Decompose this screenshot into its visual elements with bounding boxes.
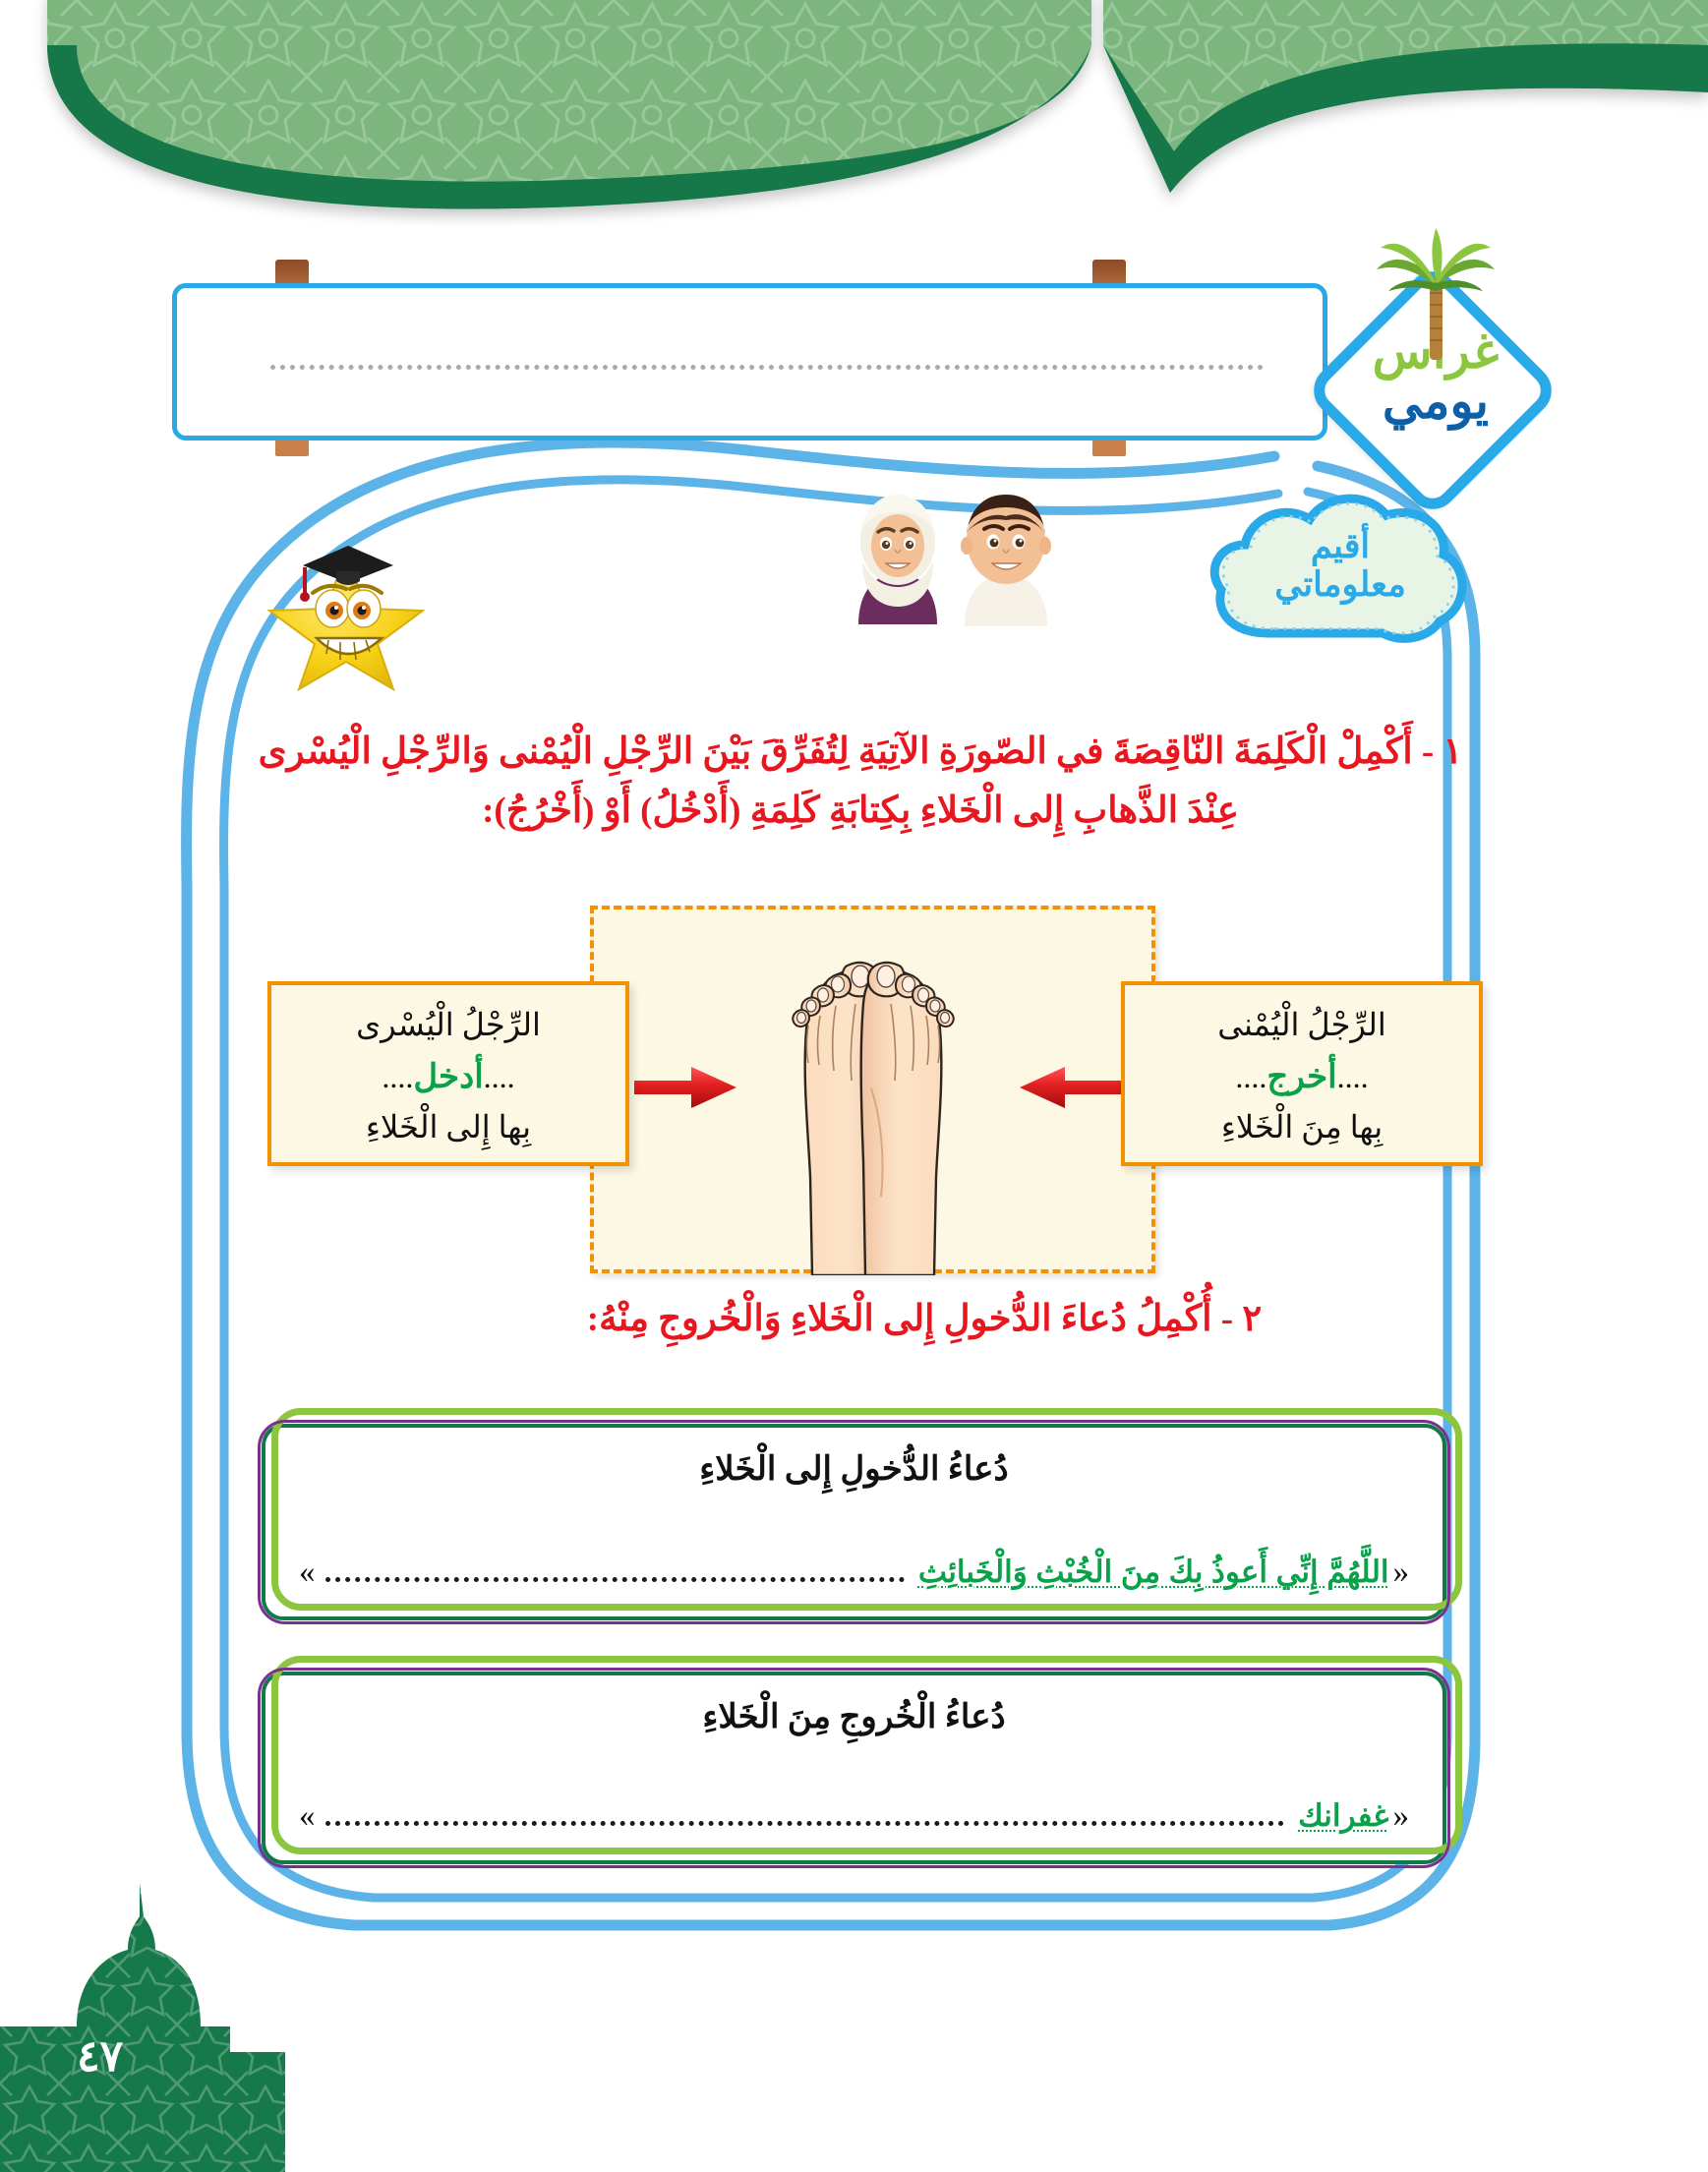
dua1-open-quote: « (1393, 1555, 1410, 1591)
ghiras-line2: يومي (1308, 377, 1563, 427)
graduation-star-icon (267, 524, 425, 691)
aqim-malumati-cloud-badge: أقيم معلوماتي (1207, 490, 1473, 647)
cloud-badge-text: أقيم معلوماتي (1207, 490, 1473, 647)
cloud-line2: معلوماتي (1274, 565, 1406, 604)
two-children-illustration (841, 477, 1067, 634)
right-box-answer[interactable]: أخرج (1266, 1058, 1336, 1095)
bare-feet-illustration (726, 913, 1021, 1275)
dua-exiting-line[interactable]: « غفرانك » (299, 1798, 1409, 1835)
left-foot-answer-box[interactable]: الرِّجْلُ الْيُسْرى ....أدخل.... بِها إِ… (267, 981, 629, 1166)
dua-entering-box[interactable]: دُعاءُ الدُّخولِ إِلى الْخَلاءِ « اللَّه… (262, 1424, 1446, 1620)
dua-exiting-box[interactable]: دُعاءُ الْخُروجِ مِنَ الْخَلاءِ « غفرانك… (262, 1672, 1446, 1864)
dua2-blank-line[interactable] (325, 1821, 1285, 1826)
question-1-text: ١ - أَكْمِلْ الْكَلِمَةَ النّاقِصَةَ في … (246, 723, 1475, 841)
right-dots-after: .... (1235, 1059, 1266, 1094)
arrow-right-icon (634, 1065, 736, 1110)
right-box-tail: بِها مِنَ الْخَلاءِ (1125, 1103, 1479, 1152)
palm-tree-icon (1367, 226, 1504, 364)
worksheet-page: غراس يومي أقيم معلوماتي (0, 0, 1708, 2172)
dua-exiting-title: دُعاءُ الْخُروجِ مِنَ الْخَلاءِ (299, 1697, 1409, 1736)
question-2-text: ٢ - أُكْمِلُ دُعاءَ الدُّخولِ إِلى الْخَ… (393, 1292, 1455, 1347)
page-number: ٤٧ (77, 2031, 123, 2082)
dua1-answer[interactable]: اللَّهُمَّ إِنِّي أَعوذُ بِكَ مِنَ الْخُ… (918, 1555, 1389, 1590)
dua2-open-quote: « (1393, 1798, 1410, 1835)
dua1-close-quote: » (299, 1555, 316, 1591)
dua2-answer[interactable]: غفرانك (1298, 1798, 1388, 1834)
arrow-left-icon (1020, 1065, 1122, 1110)
dua2-close-quote: » (299, 1798, 316, 1835)
dua-entering-line[interactable]: « اللَّهُمَّ إِنِّي أَعوذُ بِكَ مِنَ الْ… (299, 1555, 1409, 1591)
right-dots-before: .... (1337, 1059, 1369, 1094)
left-box-answer[interactable]: أدخل (413, 1058, 483, 1095)
left-dots-after: .... (382, 1059, 413, 1094)
right-box-title: الرِّجْلُ الْيُمْنى (1125, 1001, 1479, 1050)
cloud-line1: أقيم (1311, 527, 1370, 565)
left-box-title: الرِّجْلُ الْيُسْرى (271, 1001, 625, 1050)
dua1-blank-line[interactable] (325, 1577, 905, 1582)
right-box-answer-row[interactable]: ....أخرج.... (1125, 1050, 1479, 1103)
dua-entering-title: دُعاءُ الدُّخولِ إِلى الْخَلاءِ (299, 1449, 1409, 1489)
left-dots-before: .... (484, 1059, 515, 1094)
left-box-answer-row[interactable]: ....أدخل.... (271, 1050, 625, 1103)
right-foot-answer-box[interactable]: الرِّجْلُ الْيُمْنى ....أخرج.... بِها مِ… (1121, 981, 1483, 1166)
left-box-tail: بِها إِلى الْخَلاءِ (271, 1103, 625, 1152)
ghiras-yawmi-badge: غراس يومي (1308, 232, 1563, 507)
